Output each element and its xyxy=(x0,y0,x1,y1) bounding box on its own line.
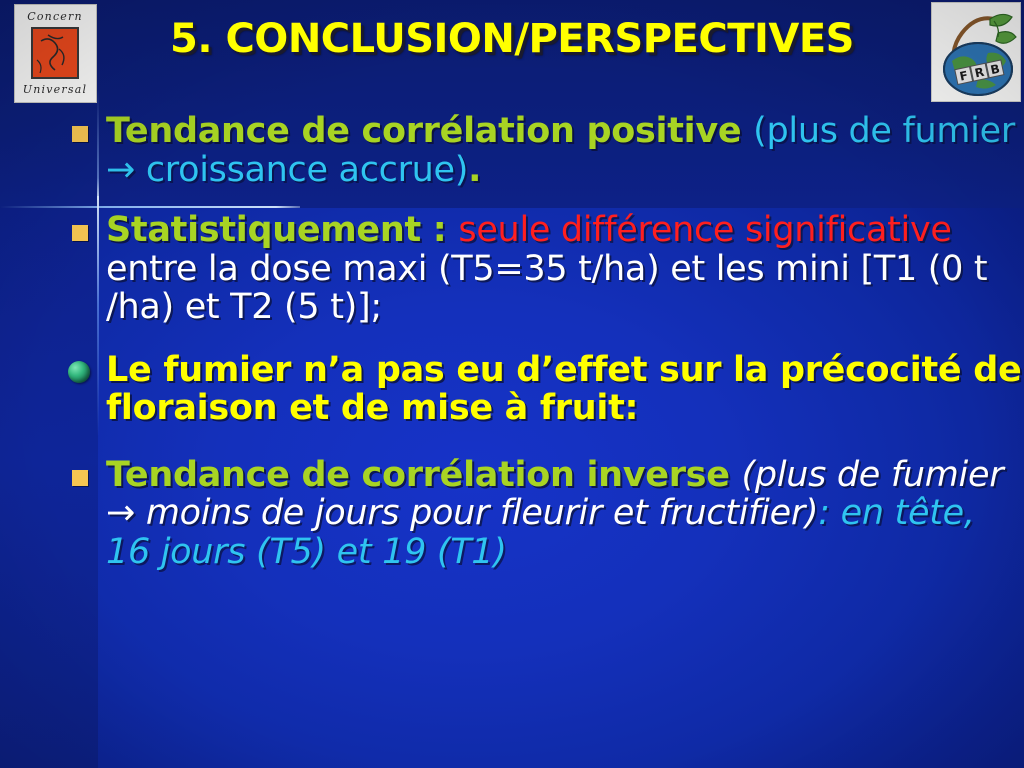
presentation-slide: Concern Universal F xyxy=(0,0,1024,768)
bullet-item: Le fumier n’a pas eu d’effet sur la préc… xyxy=(60,351,1024,428)
bullet-segment-text: . xyxy=(468,150,481,190)
bullet-segment-text: seule différence significative xyxy=(458,210,951,250)
bullet-item: Statistiquement : seule différence signi… xyxy=(60,211,1024,327)
bullet-segment-text: Statistiquement : xyxy=(106,210,458,250)
bullet-marker-globe-icon xyxy=(68,361,90,383)
bullet-marker-square-icon xyxy=(72,126,88,142)
bullet-segment-text: Tendance de corrélation inverse xyxy=(106,455,742,495)
bullet-item: Tendance de corrélation inverse (plus de… xyxy=(60,456,1024,572)
bullet-segment-text: entre la dose maxi (T5=35 t/ha) et les m… xyxy=(106,249,987,328)
bullet-marker-square-icon xyxy=(72,470,88,486)
bullet-segment-text: Tendance de corrélation positive xyxy=(106,111,753,151)
slide-body: Tendance de corrélation positive (plus d… xyxy=(60,112,1024,589)
bullet-item: Tendance de corrélation positive (plus d… xyxy=(60,112,1024,189)
svg-text:Universal: Universal xyxy=(23,83,87,96)
bullet-marker-square-icon xyxy=(72,225,88,241)
bullet-segment-text: Le fumier n’a pas eu d’effet sur la préc… xyxy=(106,350,1021,429)
slide-title: 5. CONCLUSION/PERSPECTIVES xyxy=(0,16,1024,62)
